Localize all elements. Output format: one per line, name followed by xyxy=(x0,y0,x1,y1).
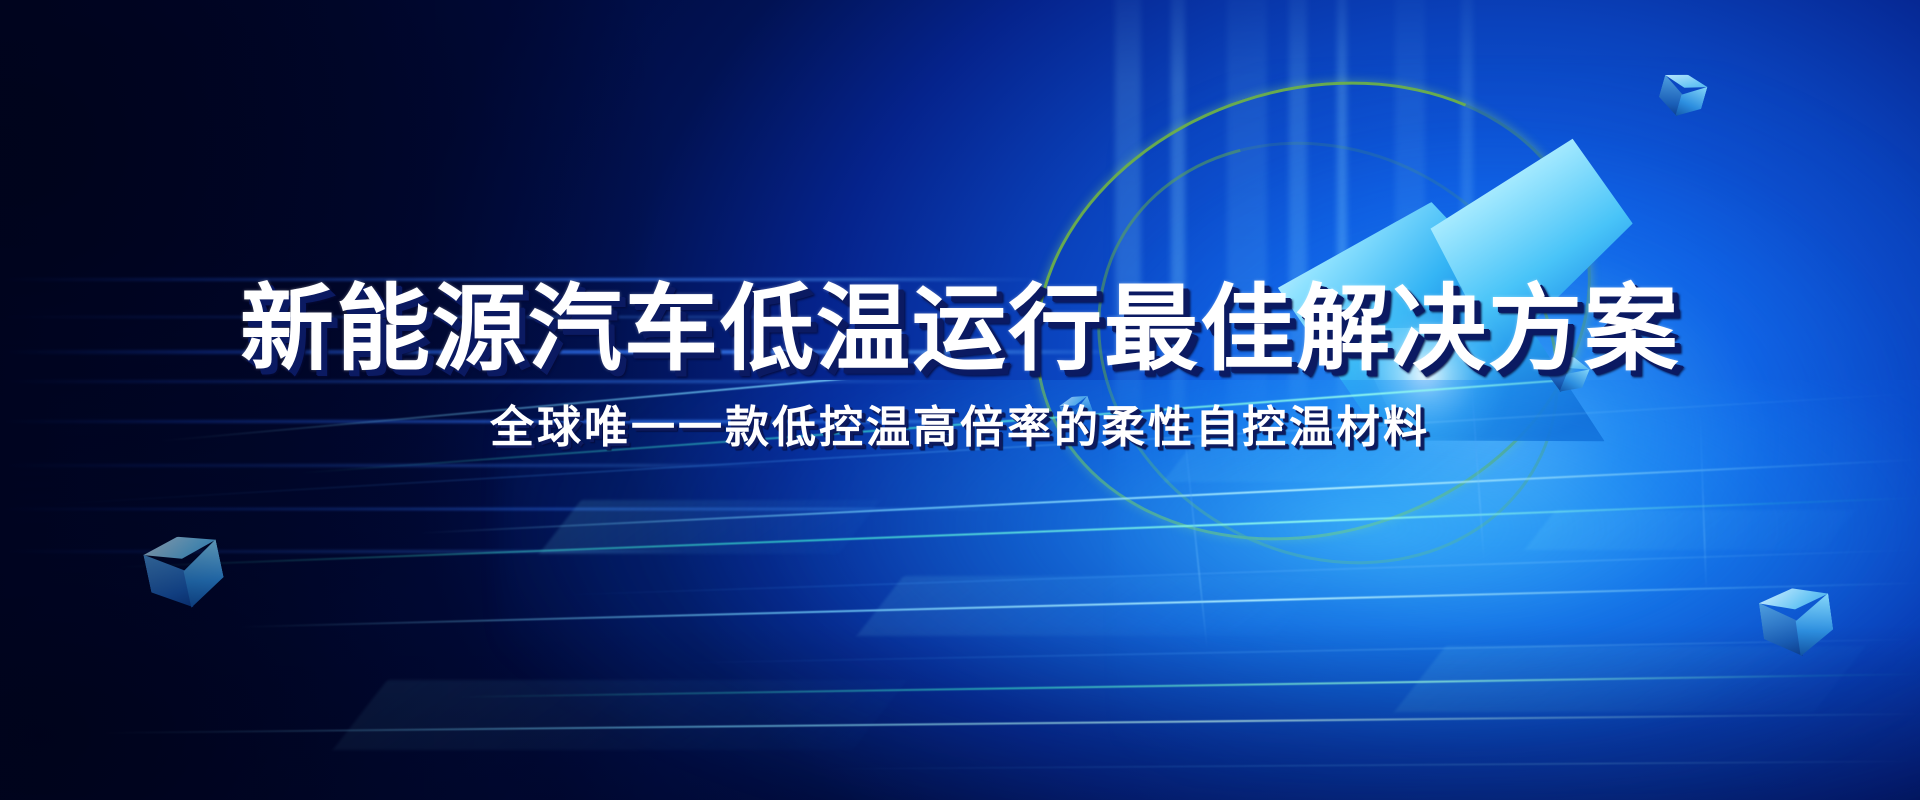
hero-banner: 新能源汽车低温运行最佳解决方案 全球唯一一款低控温高倍率的柔性自控温材料 xyxy=(0,0,1920,800)
floating-cube-bottom-right xyxy=(1757,583,1836,662)
floating-cube-bottom-left xyxy=(141,529,229,617)
banner-subtitle: 全球唯一一款低控温高倍率的柔性自控温材料 xyxy=(0,406,1920,450)
banner-title: 新能源汽车低温运行最佳解决方案 xyxy=(0,282,1920,376)
headline-block: 新能源汽车低温运行最佳解决方案 全球唯一一款低控温高倍率的柔性自控温材料 xyxy=(0,282,1920,450)
